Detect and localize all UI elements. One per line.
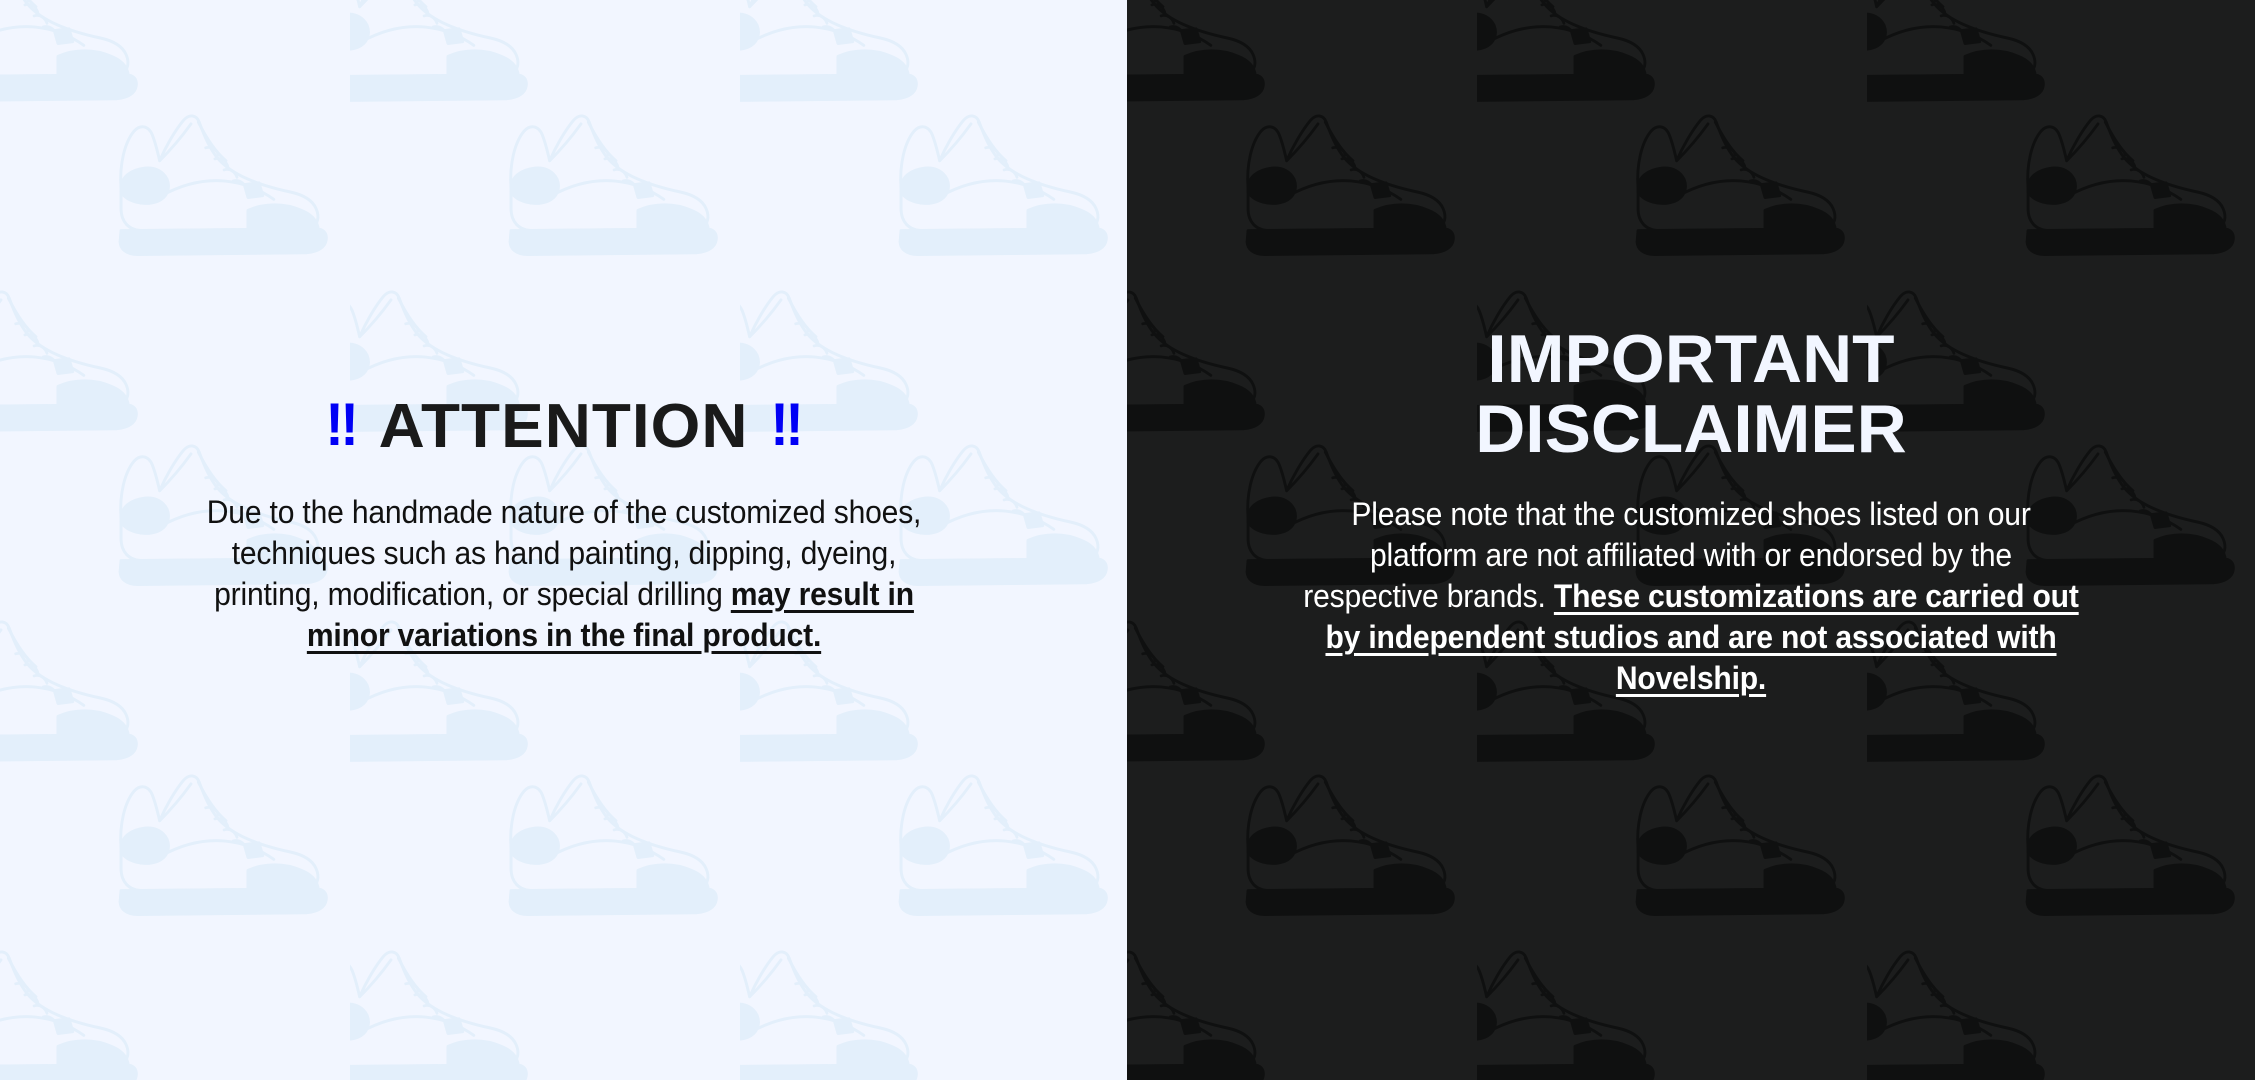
disclaimer-heading: IMPORTANT DISCLAIMER xyxy=(1268,325,2115,464)
disclaimer-content: IMPORTANT DISCLAIMER Please note that th… xyxy=(1276,325,2106,698)
attention-heading: ‼ ATTENTION ‼ xyxy=(169,396,959,458)
double-exclamation-icon-right: ‼ xyxy=(770,395,802,455)
attention-panel: ‼ ATTENTION ‼ Due to the handmade nature… xyxy=(0,0,1127,1080)
disclaimer-banner: ‼ ATTENTION ‼ Due to the handmade nature… xyxy=(0,0,2255,1080)
disclaimer-heading-line1: IMPORTANT xyxy=(1487,321,1894,397)
disclaimer-panel: IMPORTANT DISCLAIMER Please note that th… xyxy=(1127,0,2255,1080)
attention-body: Due to the handmade nature of the custom… xyxy=(192,492,935,656)
attention-content: ‼ ATTENTION ‼ Due to the handmade nature… xyxy=(169,396,959,656)
disclaimer-body: Please note that the customized shoes li… xyxy=(1301,494,2081,699)
attention-heading-text: ATTENTION xyxy=(379,396,749,458)
disclaimer-heading-line2: DISCLAIMER xyxy=(1475,391,1907,467)
double-exclamation-icon-left: ‼ xyxy=(325,395,357,455)
